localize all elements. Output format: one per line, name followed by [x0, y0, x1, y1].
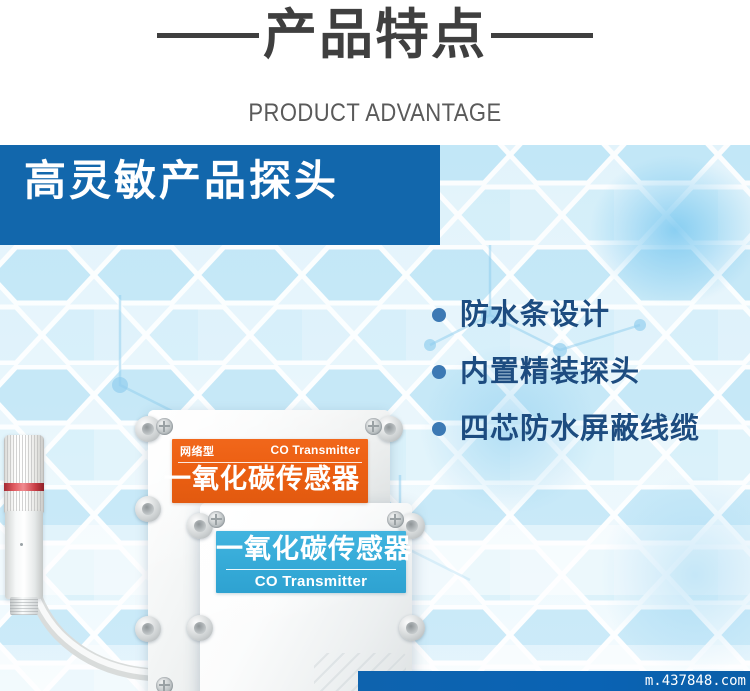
rear-label-type: 网络型	[180, 443, 215, 459]
title-rule-left	[157, 33, 259, 38]
feature-label: 内置精装探头	[460, 357, 640, 386]
feature-item: 防水条设计	[432, 300, 750, 329]
mounting-ear	[399, 615, 425, 641]
probe-red-band	[4, 483, 44, 491]
feature-item: 内置精装探头	[432, 357, 750, 386]
rear-label-top-row: 网络型 CO Transmitter	[172, 439, 368, 463]
page-title-en: PRODUCT ADVANTAGE	[45, 99, 705, 128]
probe-body	[5, 511, 43, 599]
bullet-dot-icon	[432, 422, 446, 436]
section-banner-label: 高灵敏产品探头	[24, 160, 339, 202]
footer-watermark-bar: m.437848.com	[358, 671, 750, 691]
rear-label-divider	[178, 462, 362, 463]
probe-filter-cap	[4, 435, 44, 513]
feature-label: 四芯防水屏蔽线缆	[460, 414, 700, 443]
corner-screw	[208, 511, 225, 528]
feature-item: 四芯防水屏蔽线缆	[432, 414, 750, 443]
rear-label-model-en: CO Transmitter	[271, 443, 361, 457]
front-label-product-name: 一氧化碳传感器	[216, 535, 406, 565]
feature-label: 防水条设计	[460, 300, 610, 329]
probe-vent-dot	[20, 543, 23, 546]
page-header: 产品特点 PRODUCT ADVANTAGE	[0, 0, 750, 145]
bullet-dot-icon	[432, 308, 446, 322]
watermark-text: m.437848.com	[645, 673, 746, 689]
mounting-ear	[135, 616, 161, 642]
rear-product-label: 网络型 CO Transmitter 一氧化碳传感器	[172, 439, 368, 503]
mounting-ear	[135, 496, 161, 522]
feature-list: 防水条设计 内置精装探头 四芯防水屏蔽线缆	[432, 300, 750, 471]
corner-screw	[156, 418, 173, 435]
front-product-label: 一氧化碳传感器 CO Transmitter	[216, 531, 406, 593]
corner-screw	[387, 511, 404, 528]
page-title-cn: 产品特点	[259, 8, 491, 62]
corner-screw	[365, 418, 382, 435]
mounting-ear	[187, 615, 213, 641]
title-rule-right	[491, 33, 593, 38]
bullet-dot-icon	[432, 365, 446, 379]
front-label-product-name-en: CO Transmitter	[216, 573, 406, 590]
rear-label-product-name: 一氧化碳传感器	[164, 466, 360, 493]
front-label-divider	[226, 569, 396, 570]
title-row: 产品特点	[0, 0, 750, 70]
corner-screw	[156, 677, 173, 691]
product-advantage-page: 产品特点 PRODUCT ADVANTAGE	[0, 0, 750, 691]
probe-cable-neck	[10, 597, 38, 615]
